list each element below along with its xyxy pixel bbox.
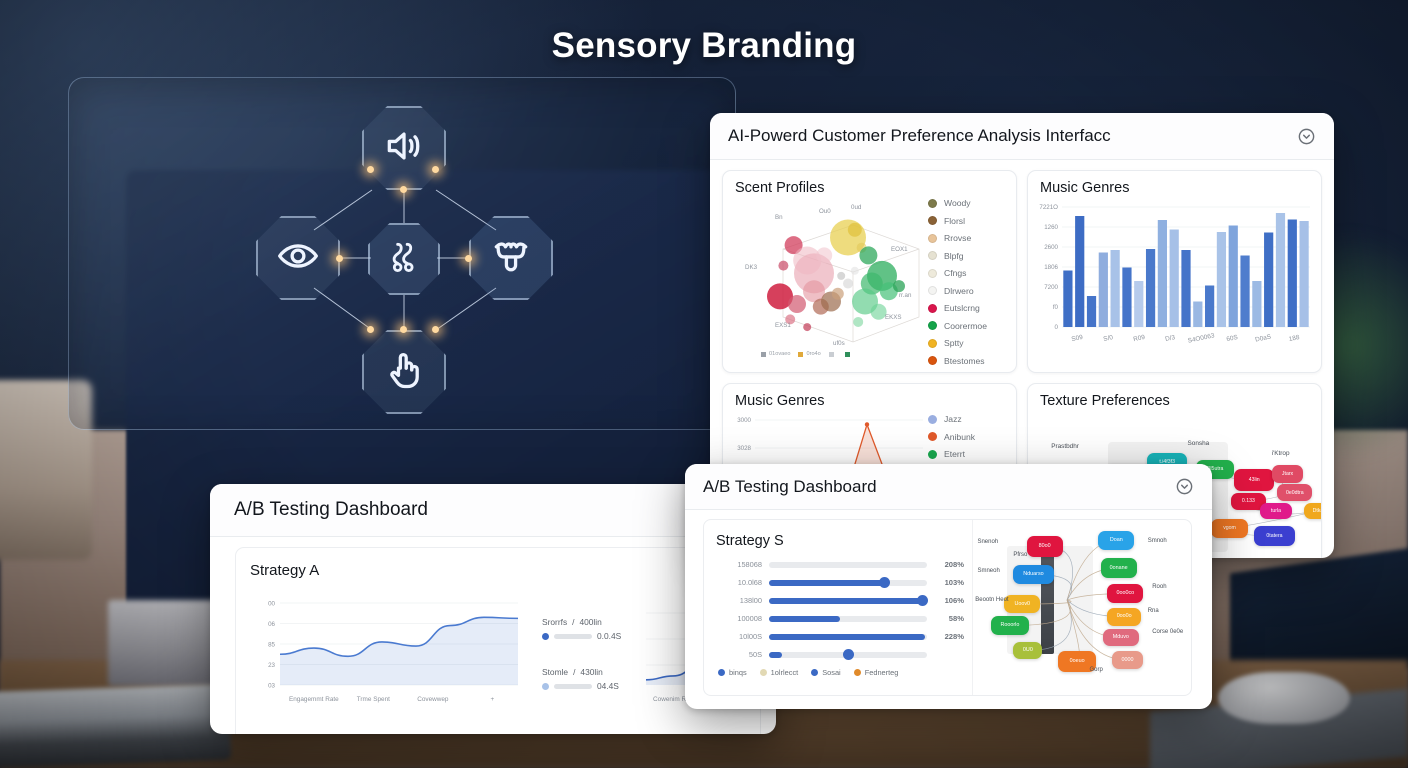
legend-item[interactable]: Sosai — [811, 668, 841, 677]
svg-text:DK3: DK3 — [745, 264, 758, 271]
sensory-node-touch[interactable] — [362, 330, 446, 414]
ab-front-node-diagram: 80o0Doan0onaneNduarso0oo0coUoov00oo0oRoo… — [973, 520, 1191, 695]
svg-text:+: + — [490, 696, 494, 703]
sensory-node-hearing[interactable] — [362, 106, 446, 190]
legend-color-swatch — [542, 683, 549, 690]
legend-item[interactable]: binqs — [718, 668, 747, 677]
svg-text:f0: f0 — [1053, 304, 1059, 311]
svg-text:S4O0063: S4O0063 — [1187, 332, 1215, 345]
legend-item[interactable]: Cfngs — [928, 268, 987, 278]
progress-bar-knob[interactable] — [917, 595, 928, 606]
progress-bar-track[interactable] — [769, 562, 927, 568]
svg-text:rr.an: rr.an — [899, 292, 912, 299]
link-spark — [367, 326, 374, 333]
svg-text:85: 85 — [268, 642, 275, 649]
scent-footer-legend: 01ovaeo0ro4o — [761, 351, 853, 357]
ab-front-diagram-section: 80o0Doan0onaneNduarso0oo0coUoov00oo0oRoo… — [972, 520, 1191, 695]
card-title-music-genres-bars: Music Genres — [1028, 171, 1321, 196]
legend-label: Jazz — [944, 414, 962, 424]
diagram-node[interactable]: 0e0dtra — [1277, 484, 1312, 501]
legend-label: 0ro4o — [806, 351, 820, 357]
card-title-music-genres-area: Music Genres — [723, 384, 1016, 409]
legend-item[interactable]: Rrovse — [928, 233, 987, 243]
svg-text:03: 03 — [268, 683, 275, 690]
legend-label: Eutslcrng — [944, 303, 980, 313]
diagram-node[interactable]: Jtarx — [1272, 465, 1304, 482]
svg-text:D/3: D/3 — [1165, 334, 1177, 343]
footer-legend-item[interactable]: 0ro4o — [798, 351, 820, 357]
legend-item[interactable]: Woody — [928, 198, 987, 208]
legend-color-swatch — [761, 352, 766, 357]
legend-item[interactable]: Dlrwero — [928, 286, 987, 296]
progress-bar-knob[interactable] — [879, 577, 890, 588]
svg-text:60S: 60S — [1226, 334, 1239, 343]
ab-testing-dashboard-front: A/B Testing Dashboard Strategy S 1580682… — [685, 464, 1212, 709]
diagram-caption: Rooh — [1152, 584, 1166, 590]
legend-color-swatch — [928, 269, 937, 278]
diagram-caption: Beootn Heot — [975, 597, 1008, 603]
legend-label: Cfngs — [944, 268, 966, 278]
progress-bar-row[interactable]: 10000858% — [716, 614, 964, 623]
svg-text:Covewwep: Covewwep — [417, 696, 449, 703]
footer-legend-item[interactable] — [829, 352, 837, 357]
music-genres-bar-chart: 7221O1260260018067200f00 S09S/0R09D/3S4O… — [1028, 199, 1318, 371]
legend-label: 01ovaeo — [769, 351, 790, 357]
progress-bar-label: 138l00 — [716, 596, 762, 605]
legend-label: Btestomes — [944, 356, 985, 366]
svg-text:Bn: Bn — [775, 214, 783, 221]
legend-item[interactable]: Jazz — [928, 414, 975, 424]
ab-front-strategy-label: Strategy S — [716, 533, 964, 549]
card-title-texture-preferences: Texture Preferences — [1028, 384, 1321, 409]
legend-label: Anibunk — [944, 432, 975, 442]
progress-bar-value: 58% — [934, 614, 964, 623]
legend-label: binqs — [729, 668, 747, 677]
svg-text:188: 188 — [1288, 334, 1300, 343]
diagram-node[interactable]: 0000 — [1112, 651, 1143, 669]
link-spark — [400, 326, 407, 333]
diagram-caption: Rna — [1148, 608, 1159, 614]
legend-color-swatch — [928, 304, 937, 313]
diagram-node[interactable]: 0tatera — [1254, 526, 1295, 547]
progress-bar-value: 106% — [934, 596, 964, 605]
legend-label: Florsl — [944, 216, 965, 226]
sensory-diagram-panel — [68, 77, 736, 430]
ab-back-strategy-card: Strategy A 0006852303 Engagemmt RateTrme… — [235, 547, 761, 734]
svg-text:EOX1: EOX1 — [891, 246, 908, 253]
svg-text:S09: S09 — [1071, 334, 1084, 343]
tongue-icon — [489, 234, 533, 283]
diagram-node[interactable]: 0oo0o — [1107, 608, 1141, 626]
svg-text:EKXS: EKXS — [885, 314, 902, 321]
svg-text:Engagemmt Rate: Engagemmt Rate — [289, 696, 339, 703]
legend-color-swatch — [928, 234, 937, 243]
card-scent-profiles: Scent Profiles BnOu0EOX1DK3rr.anEKXSEXS1… — [722, 170, 1017, 373]
svg-text:06: 06 — [268, 621, 275, 628]
legend-bar — [554, 684, 592, 689]
hand-pointer-icon — [382, 348, 426, 397]
diagram-caption: Pfrso — [1013, 552, 1027, 558]
diagram-caption: Sonsha — [1188, 440, 1210, 447]
diagram-caption: Snenoh — [977, 539, 998, 545]
progress-bar-row[interactable]: 10.0l68103% — [716, 578, 964, 587]
legend-color-swatch — [928, 199, 937, 208]
link-spark — [432, 326, 439, 333]
legend-label: 1olrlecct — [771, 668, 799, 677]
diagram-node[interactable]: Doan — [1098, 531, 1134, 550]
card-title-scent-profiles: Scent Profiles — [723, 171, 1016, 196]
ab-front-legend: binqs1olrlecctSosaiFednerteg — [716, 668, 964, 677]
svg-text:Ou0: Ou0 — [819, 208, 831, 215]
progress-bar-label: 10.0l68 — [716, 578, 762, 587]
progress-bar-row[interactable]: 158068208% — [716, 560, 964, 569]
progress-bar-track[interactable] — [769, 598, 927, 604]
progress-bar-value: 103% — [934, 578, 964, 587]
progress-bar-row[interactable]: 10l00S228% — [716, 632, 964, 641]
svg-text:00: 00 — [268, 601, 275, 608]
diagram-node[interactable]: Rooorlo — [991, 616, 1029, 635]
legend-item[interactable]: Eterrt — [928, 449, 975, 459]
diagram-node[interactable]: 0oo0co — [1107, 584, 1143, 603]
legend-name: Stomle — [542, 667, 568, 677]
diagram-node[interactable]: turla — [1260, 503, 1292, 518]
legend-item[interactable]: Sptty — [928, 338, 987, 348]
svg-text:7200: 7200 — [1044, 284, 1058, 291]
legend-color-swatch — [798, 352, 803, 357]
ab-front-progress-bars: 158068208%10.0l68103%138l00106%10000858%… — [716, 560, 964, 659]
ab-front-header: A/B Testing Dashboard — [685, 464, 1212, 510]
diagram-node[interactable]: 43lin — [1234, 469, 1275, 491]
progress-bar-track[interactable] — [769, 580, 927, 586]
progress-bar-fill — [769, 580, 884, 586]
legend-item[interactable]: Btestomes — [928, 356, 987, 366]
progress-bar-label: 50S — [716, 650, 762, 659]
legend-color-swatch — [854, 669, 861, 676]
diagram-caption: Smnoh — [1148, 538, 1167, 544]
diagram-caption: Prastbdhr — [1051, 443, 1079, 450]
diagram-caption: i'Ktrop — [1272, 450, 1290, 457]
ab-back-title: A/B Testing Dashboard — [234, 499, 428, 521]
diagram-caption: Smneoh — [977, 568, 999, 574]
card-music-genres-bars: Music Genres 7221O1260260018067200f00 S0… — [1027, 170, 1322, 373]
sensory-node-sight[interactable] — [256, 216, 340, 300]
legend-item[interactable]: Blpfg — [928, 251, 987, 261]
chevron-down-circle-icon[interactable] — [1175, 477, 1194, 496]
ai-panel-title: AI-Powerd Customer Preference Analysis I… — [728, 126, 1111, 146]
progress-bar-fill — [769, 616, 840, 622]
legend-color-swatch — [928, 321, 937, 330]
legend-color-swatch — [811, 669, 818, 676]
legend-item[interactable]: 1olrlecct — [760, 668, 799, 677]
legend-separator: / — [573, 667, 575, 677]
svg-text:D0aS: D0aS — [1255, 333, 1272, 343]
legend-item[interactable]: Eutslcrng — [928, 303, 987, 313]
progress-bar-track[interactable] — [769, 652, 927, 658]
legend-name: Srorrfs — [542, 617, 567, 627]
speaker-icon — [382, 124, 426, 173]
footer-legend-item[interactable]: 01ovaeo — [761, 351, 790, 357]
svg-text:S/0: S/0 — [1103, 334, 1114, 343]
legend-color-swatch — [928, 415, 937, 424]
svg-text:R09: R09 — [1133, 334, 1146, 343]
legend-label: Woody — [944, 198, 971, 208]
progress-bar-fill — [769, 652, 782, 658]
svg-text:3000: 3000 — [737, 417, 751, 424]
diagram-node[interactable]: 80o0 — [1027, 536, 1063, 557]
link-spark — [400, 186, 407, 193]
legend-color-swatch — [718, 669, 725, 676]
diagram-caption: Gorp — [1089, 667, 1102, 673]
legend-label: Blpfg — [944, 251, 964, 261]
legend-label: Eterrt — [944, 449, 965, 459]
legend-color-swatch — [760, 669, 767, 676]
legend-label: Coorermoe — [944, 321, 987, 331]
svg-text:1806: 1806 — [1044, 264, 1058, 271]
legend-item[interactable]: Anibunk — [928, 432, 975, 442]
svg-text:1260: 1260 — [1044, 224, 1058, 231]
svg-text:uf0s: uf0s — [833, 340, 845, 347]
page-title: Sensory Branding — [0, 26, 1408, 66]
progress-bar-knob[interactable] — [843, 649, 854, 660]
legend-bar — [554, 634, 592, 639]
music-genres-area-legend: JazzAnibunkEterrt — [928, 414, 975, 467]
diagram-node[interactable]: vgom — [1211, 519, 1249, 538]
legend-label: Fednerteg — [865, 668, 899, 677]
link-spark — [432, 166, 439, 173]
legend-item[interactable]: Fednerteg — [854, 668, 899, 677]
ab-front-bars-section: Strategy S 158068208%10.0l68103%138l0010… — [704, 520, 972, 695]
legend-detail: 0.0.4S — [597, 631, 621, 641]
progress-bar-row[interactable]: 50S — [716, 650, 964, 659]
footer-legend-item[interactable] — [845, 352, 853, 357]
svg-text:7221O: 7221O — [1039, 204, 1058, 211]
diagram-caption: Corse 0e0e — [1152, 629, 1183, 635]
progress-bar-label: 158068 — [716, 560, 762, 569]
legend-color-swatch — [928, 432, 937, 441]
progress-bar-track[interactable] — [769, 634, 927, 640]
progress-bar-value: 228% — [934, 632, 964, 641]
chevron-down-circle-icon[interactable] — [1297, 127, 1316, 146]
legend-color-swatch — [928, 216, 937, 225]
diagram-node[interactable]: 0U0 — [1013, 642, 1042, 660]
legend-item[interactable]: Coorermoe — [928, 321, 987, 331]
diagram-node[interactable]: Mduvo — [1103, 629, 1139, 647]
legend-color-swatch — [829, 352, 834, 357]
legend-color-swatch — [845, 352, 850, 357]
diagram-node[interactable]: 0onane — [1101, 558, 1137, 577]
link-spark — [367, 166, 374, 173]
progress-bar-fill — [769, 634, 925, 640]
ai-panel-header: AI-Powerd Customer Preference Analysis I… — [710, 113, 1334, 160]
scent-legend: WoodyFlorslRrovseBlpfgCfngsDlrweroEutslc… — [928, 198, 987, 373]
legend-color-swatch — [928, 339, 937, 348]
link-spark — [336, 255, 343, 262]
svg-text:0: 0 — [1055, 324, 1059, 331]
svg-text:2600: 2600 — [1044, 244, 1058, 251]
svg-text:0ud: 0ud — [851, 204, 862, 211]
legend-detail: 04.4S — [597, 681, 619, 691]
svg-text:3028: 3028 — [737, 445, 751, 452]
svg-text:Trme Spent: Trme Spent — [357, 696, 390, 703]
ab-front-title: A/B Testing Dashboard — [703, 477, 877, 497]
legend-separator: / — [572, 617, 574, 627]
progress-bar-fill — [769, 598, 922, 604]
diagram-node[interactable]: Uoov0 — [1004, 595, 1040, 613]
diagram-node[interactable]: Dtka — [1304, 503, 1323, 518]
eye-icon — [276, 234, 320, 283]
legend-color-swatch — [928, 251, 937, 260]
ab-front-strategy-card: Strategy S 158068208%10.0l68103%138l0010… — [703, 519, 1192, 696]
legend-label: Rrovse — [944, 233, 971, 243]
progress-bar-label: 100008 — [716, 614, 762, 623]
progress-bar-row[interactable]: 138l00106% — [716, 596, 964, 605]
legend-color-swatch — [928, 450, 937, 459]
legend-label: Dlrwero — [944, 286, 974, 296]
legend-color-swatch — [542, 633, 549, 640]
link-spark — [465, 255, 472, 262]
legend-value: 430lin — [580, 667, 602, 677]
diagram-node[interactable]: Nduarso — [1013, 565, 1053, 584]
legend-color-swatch — [928, 356, 937, 365]
ab-back-strategy-label: Strategy A — [250, 562, 760, 579]
legend-label: Sptty — [944, 338, 964, 348]
svg-text:EXS1: EXS1 — [775, 322, 791, 329]
progress-bar-value: 208% — [934, 560, 964, 569]
progress-bar-label: 10l00S — [716, 632, 762, 641]
legend-label: Sosai — [822, 668, 841, 677]
progress-bar-track[interactable] — [769, 616, 927, 622]
legend-item[interactable]: Florsl — [928, 216, 987, 226]
legend-color-swatch — [928, 286, 937, 295]
svg-text:23: 23 — [268, 662, 275, 669]
scent-icon — [385, 238, 423, 281]
legend-value: 400lin — [579, 617, 601, 627]
